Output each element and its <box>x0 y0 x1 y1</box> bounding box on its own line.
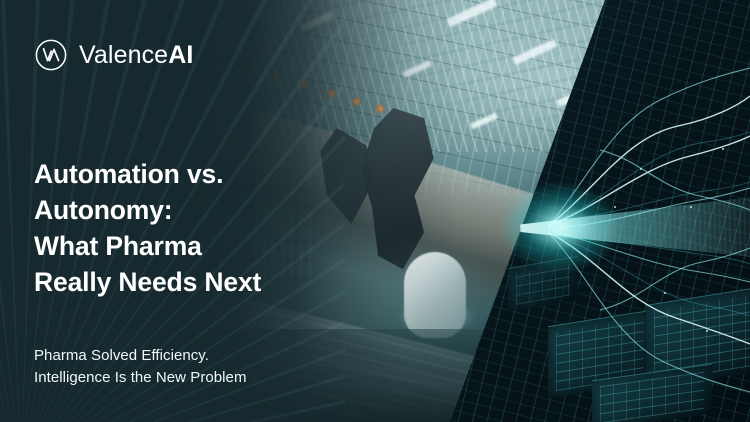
headline-line-1: Automation vs. <box>34 156 334 192</box>
brand-name: ValenceAI <box>79 43 193 68</box>
banner-content: ValenceAI Automation vs. Autonomy: What … <box>0 0 750 422</box>
valence-circle-monogram-icon <box>34 38 68 72</box>
brand-name-bold: AI <box>168 41 193 69</box>
headline-line-2: Autonomy: <box>34 192 334 228</box>
brand-lockup[interactable]: ValenceAI <box>34 38 193 72</box>
headline-line-3: What Pharma <box>34 228 334 264</box>
subtitle-line-1: Pharma Solved Efficiency. <box>34 345 364 367</box>
subtitle-line-2: Intelligence Is the New Problem <box>34 367 364 389</box>
page-title: Automation vs. Autonomy: What Pharma Rea… <box>34 156 334 300</box>
headline-line-4: Really Needs Next <box>34 264 334 300</box>
brand-name-light: Valence <box>79 41 168 69</box>
promo-banner: ValenceAI Automation vs. Autonomy: What … <box>0 0 750 422</box>
subtitle: Pharma Solved Efficiency. Intelligence I… <box>34 345 364 389</box>
